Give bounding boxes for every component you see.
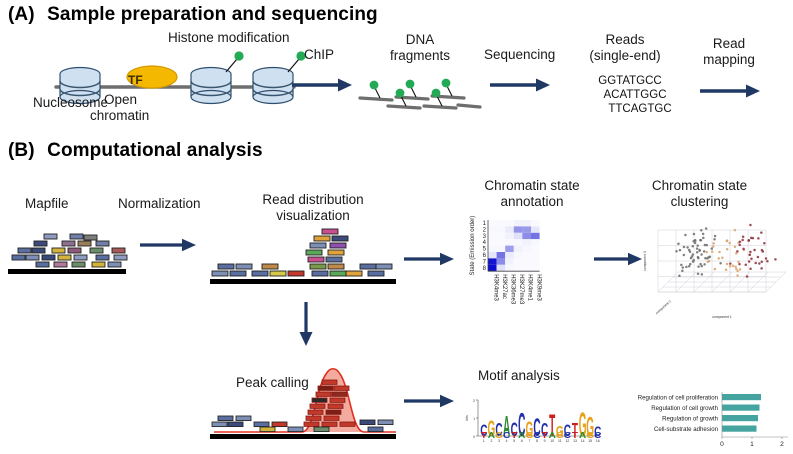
- scatter-point: [712, 245, 715, 248]
- scatter-point: [757, 237, 760, 240]
- scatter-point: [760, 267, 763, 270]
- heatmap-cell: [514, 226, 523, 232]
- scatter-point: [690, 257, 693, 260]
- scatter-point: [754, 262, 757, 265]
- scatter-point: [729, 265, 732, 268]
- go-x-tick: 2: [780, 441, 784, 448]
- scatter-point: [725, 268, 728, 271]
- dna-fragments-graphic: [358, 78, 480, 118]
- mapfile-label: Mapfile: [25, 196, 69, 211]
- scatter-point: [735, 268, 738, 271]
- scatter-point: [732, 265, 735, 268]
- scatter-point: [701, 273, 704, 276]
- panel-b-tag: (B): [8, 140, 35, 161]
- heatmap-cell: [497, 246, 506, 252]
- heatmap-col-label: H3K4me3: [492, 274, 498, 301]
- scatter-point: [761, 261, 764, 264]
- mapfile-graphic: [8, 232, 130, 274]
- heatmap-cell: [522, 239, 531, 245]
- scatter-point: [704, 244, 707, 247]
- logo-x-tick: 2: [490, 439, 492, 443]
- heatmap-cell: [488, 226, 497, 232]
- panel-b-heading: (B) Computational analysis: [8, 140, 263, 162]
- scatter-point: [684, 234, 687, 237]
- go-x-tick: 0: [720, 441, 724, 448]
- logo-y-tick: 1: [473, 417, 475, 421]
- sequencing-label: Sequencing: [484, 47, 555, 62]
- scatter-point: [749, 251, 752, 254]
- scatter-point: [677, 243, 680, 246]
- go-bar: [722, 415, 758, 421]
- scatter-point: [739, 240, 742, 243]
- scatter-point: [714, 268, 717, 271]
- heatmap-cell: [488, 220, 497, 226]
- read-sequence: GGTATGCC: [582, 74, 678, 88]
- go-category-label: Regulation of cell growth: [651, 405, 718, 412]
- scatter-point: [675, 250, 678, 253]
- logo-x-tick: 12: [566, 439, 570, 443]
- heatmap-cell: [505, 233, 514, 239]
- scatter-point: [685, 266, 688, 269]
- chromatin-state-heatmap: 12345678H3K4me3H3K27acH3K36me3H3K27me3H3…: [466, 214, 576, 332]
- chromatin-clustering-plot: component 3component 1component 2: [634, 212, 784, 332]
- heatmap-row-tick: 7: [483, 259, 487, 265]
- heatmap-cell: [505, 239, 514, 245]
- arrow-read-mapping: [700, 82, 762, 100]
- scatter-z-axis-label: component 2: [655, 299, 672, 315]
- panel-a-heading: (A) Sample preparation and sequencing: [8, 4, 378, 26]
- heatmap-cell: [522, 220, 531, 226]
- scatter-point: [766, 260, 769, 263]
- go-bar: [722, 405, 760, 411]
- read-sequence: TTCAGTGC: [602, 102, 678, 116]
- heatmap-y-axis-label: State (Emission order): [470, 216, 476, 276]
- heatmap-cell: [488, 233, 497, 239]
- heatmap-cell: [514, 220, 523, 226]
- logo-x-tick: 3: [498, 439, 500, 443]
- heatmap-cell: [514, 265, 523, 271]
- scatter-point: [739, 268, 742, 271]
- go-analysis-chart: Regulation of cell proliferationRegulati…: [614, 390, 790, 452]
- scatter-point: [683, 254, 686, 257]
- scatter-point: [713, 238, 716, 241]
- heatmap-cell: [497, 239, 506, 245]
- heatmap-row-tick: 6: [483, 253, 487, 259]
- scatter-point: [702, 233, 705, 236]
- scatter-point: [742, 248, 745, 251]
- scatter-point: [700, 229, 703, 232]
- scatter-point: [711, 250, 714, 253]
- scatter-point: [719, 262, 722, 265]
- scatter-point: [738, 244, 741, 247]
- arrow-normalization: [140, 236, 198, 254]
- heatmap-cell: [514, 246, 523, 252]
- scatter-point: [734, 266, 737, 269]
- heatmap-cell: [497, 233, 506, 239]
- arrow-to-motif-analysis: [404, 392, 456, 410]
- heatmap-col-label: H3K4me1: [527, 274, 533, 301]
- logo-x-tick: 1: [483, 439, 485, 443]
- scatter-point: [750, 258, 753, 261]
- scatter-point: [679, 249, 682, 252]
- scatter-point: [696, 251, 699, 254]
- heatmap-col-label: H3K27ac: [501, 274, 507, 299]
- heatmap-cell: [497, 265, 506, 271]
- scatter-point: [703, 250, 706, 253]
- read-sequence: ACATTGGC: [592, 88, 678, 102]
- heatmap-col-label: H3K36me3: [510, 274, 516, 305]
- scatter-point: [705, 227, 708, 230]
- scatter-point: [726, 263, 729, 266]
- histone-modification-label: Histone modification: [168, 30, 290, 45]
- scatter-point: [700, 253, 703, 256]
- open-chromatin-label-line2: chromatin: [90, 108, 149, 123]
- scatter-point: [746, 275, 749, 278]
- logo-x-tick: 9: [544, 439, 546, 443]
- heatmap-cell: [497, 258, 506, 264]
- scatter-point: [680, 264, 683, 267]
- scatter-point: [688, 265, 691, 268]
- arrow-sequencing: [490, 76, 552, 94]
- scatter-point: [748, 260, 751, 263]
- heatmap-cell: [505, 265, 514, 271]
- heatmap-cell: [488, 239, 497, 245]
- heatmap-cell: [531, 220, 540, 226]
- scatter-point: [688, 249, 691, 252]
- scatter-point: [696, 244, 698, 247]
- go-x-tick: 1: [750, 441, 754, 448]
- heatmap-row-tick: 5: [483, 247, 487, 253]
- logo-x-tick: 4: [506, 439, 508, 443]
- scatter-point: [726, 240, 729, 243]
- heatmap-cell: [522, 258, 531, 264]
- scatter-point: [718, 251, 721, 254]
- scatter-point: [701, 265, 704, 268]
- arrow-chip: [292, 76, 354, 94]
- nucleosome-2: [191, 51, 244, 103]
- heatmap-cell: [514, 258, 523, 264]
- heatmap-row-tick: 3: [483, 234, 487, 240]
- scatter-point: [728, 242, 731, 245]
- scatter-point: [697, 265, 700, 268]
- heatmap-cell: [531, 246, 540, 252]
- scatter-point: [691, 245, 694, 248]
- scatter-point: [696, 247, 699, 250]
- scatter-point: [738, 263, 741, 266]
- go-category-label: Cell-substrate adhesion: [654, 426, 718, 433]
- scatter-point: [699, 239, 702, 242]
- scatter-point: [736, 274, 739, 277]
- logo-y-tick: 0: [473, 435, 475, 439]
- scatter-point: [693, 233, 696, 236]
- heatmap-cell: [531, 265, 540, 271]
- heatmap-cell: [505, 252, 514, 258]
- scatter-point: [774, 258, 777, 261]
- scatter-point: [749, 224, 752, 227]
- scatter-point: [712, 242, 715, 245]
- logo-x-tick: 16: [596, 439, 600, 443]
- heatmap-cell: [488, 265, 497, 271]
- read-sequence-list: GGTATGCC ACATTGGC TTCAGTGC: [582, 74, 678, 116]
- scatter-point: [698, 249, 701, 252]
- motif-logo-plot: 012bitsCT1GA2CG3AC4CT5CA6GG7CC8CT9TA10GG…: [462, 392, 612, 450]
- go-bar: [722, 426, 757, 432]
- arrow-to-chromatin-annotation: [404, 250, 456, 268]
- scatter-point: [706, 261, 709, 264]
- heatmap-cell: [522, 265, 531, 271]
- scatter-y-axis-label: component 3: [643, 251, 647, 271]
- logo-y-tick: 2: [473, 399, 475, 403]
- scatter-point: [702, 237, 705, 240]
- scatter-point: [729, 262, 732, 265]
- logo-x-tick: 6: [521, 439, 523, 443]
- read-distribution-graphic: [210, 228, 400, 290]
- heatmap-cell: [522, 252, 531, 258]
- logo-x-tick: 13: [573, 439, 577, 443]
- scatter-point: [692, 260, 695, 263]
- heatmap-cell: [514, 239, 523, 245]
- heatmap-cell: [531, 226, 540, 232]
- heatmap-row-tick: 8: [483, 266, 487, 272]
- heatmap-cell: [488, 258, 497, 264]
- heatmap-cell: [522, 226, 531, 232]
- read-mapping-label: Read mapping: [696, 36, 762, 67]
- heatmap-row-tick: 1: [483, 221, 487, 227]
- scatter-point: [726, 248, 729, 251]
- scatter-point: [734, 245, 737, 248]
- normalization-label: Normalization: [118, 196, 201, 211]
- heatmap-cell: [505, 258, 514, 264]
- scatter-point: [752, 237, 755, 240]
- scatter-point: [737, 261, 740, 264]
- scatter-point: [744, 264, 747, 267]
- scatter-x-axis-label: component 1: [712, 315, 732, 319]
- histone-mark-icon: [234, 51, 243, 60]
- scatter-point: [686, 246, 689, 249]
- heatmap-cell: [505, 246, 514, 252]
- scatter-point: [763, 242, 766, 244]
- go-category-label: Regulation of growth: [662, 416, 718, 423]
- heatmap-cell: [522, 233, 531, 239]
- open-chromatin-label-line1: Open: [104, 92, 137, 107]
- logo-y-axis-label: bits: [465, 415, 469, 421]
- logo-x-tick: 15: [588, 439, 592, 443]
- heatmap-cell: [514, 252, 523, 258]
- tf-label: TF: [128, 74, 143, 87]
- scatter-point: [705, 251, 708, 254]
- scatter-point: [760, 231, 763, 234]
- peak-calling-graphic: [210, 358, 400, 446]
- heatmap-cell: [514, 233, 523, 239]
- read-distribution-label: Read distribution visualization: [238, 192, 388, 223]
- go-category-label: Regulation of cell proliferation: [638, 395, 718, 402]
- heatmap-col-label: H3K27me3: [518, 274, 524, 305]
- heatmap-cell: [531, 239, 540, 245]
- scatter-point: [761, 249, 764, 252]
- motif-analysis-title: Motif analysis: [478, 368, 560, 383]
- arrow-to-peak-calling: [296, 302, 316, 348]
- logo-x-tick: 7: [528, 439, 530, 443]
- scatter-point: [717, 257, 720, 260]
- scatter-point: [703, 263, 706, 266]
- scatter-point: [694, 239, 697, 242]
- logo-x-tick: 14: [581, 439, 585, 443]
- reads-label: Reads (single-end): [570, 32, 680, 63]
- scatter-point: [747, 239, 750, 242]
- scatter-point: [734, 229, 737, 232]
- heatmap-cell: [531, 252, 540, 258]
- chromatin-annotation-title: Chromatin state annotation: [452, 178, 612, 209]
- scatter-point: [757, 256, 760, 259]
- logo-x-tick: 10: [550, 439, 554, 443]
- scatter-point: [697, 272, 700, 275]
- chromatin-clustering-title: Chromatin state clustering: [612, 178, 787, 209]
- panel-b-title: Computational analysis: [47, 140, 262, 161]
- scatter-point: [749, 267, 752, 270]
- heatmap-cell: [488, 246, 497, 252]
- scatter-point: [758, 262, 761, 265]
- logo-x-tick: 8: [536, 439, 538, 443]
- logo-x-tick: 11: [558, 439, 562, 443]
- scatter-point: [682, 266, 685, 269]
- heatmap-cell: [488, 252, 497, 258]
- scatter-point: [753, 249, 756, 252]
- scatter-point: [736, 250, 739, 253]
- heatmap-row-tick: 2: [483, 227, 487, 233]
- scatter-point: [678, 274, 681, 277]
- scatter-point: [697, 256, 700, 259]
- scatter-point: [714, 235, 717, 238]
- heatmap-cell: [522, 246, 531, 252]
- heatmap-cell: [497, 226, 506, 232]
- scatter-point: [741, 239, 744, 242]
- chip-label: ChIP: [304, 47, 334, 62]
- heatmap-cell: [497, 220, 506, 226]
- heatmap-cell: [531, 233, 540, 239]
- logo-x-tick: 5: [513, 439, 515, 443]
- dna-fragments-label: DNA fragments: [385, 32, 455, 63]
- heatmap-cell: [505, 220, 514, 226]
- heatmap-cell: [505, 226, 514, 232]
- panel-a-tag: (A): [8, 4, 35, 25]
- scatter-point: [709, 256, 712, 259]
- heatmap-cell: [531, 258, 540, 264]
- heatmap-col-label: H3K9me3: [535, 274, 541, 301]
- panel-a-title: Sample preparation and sequencing: [47, 4, 378, 25]
- go-bar: [722, 394, 761, 400]
- heatmap-cell: [497, 252, 506, 258]
- scatter-point: [706, 257, 709, 260]
- scatter-point: [683, 246, 686, 249]
- scatter-point: [742, 235, 745, 238]
- scatter-point: [681, 270, 684, 273]
- scatter-point: [748, 254, 751, 257]
- scatter-point: [721, 256, 724, 259]
- heatmap-row-tick: 4: [483, 240, 487, 246]
- scatter-point: [765, 257, 768, 260]
